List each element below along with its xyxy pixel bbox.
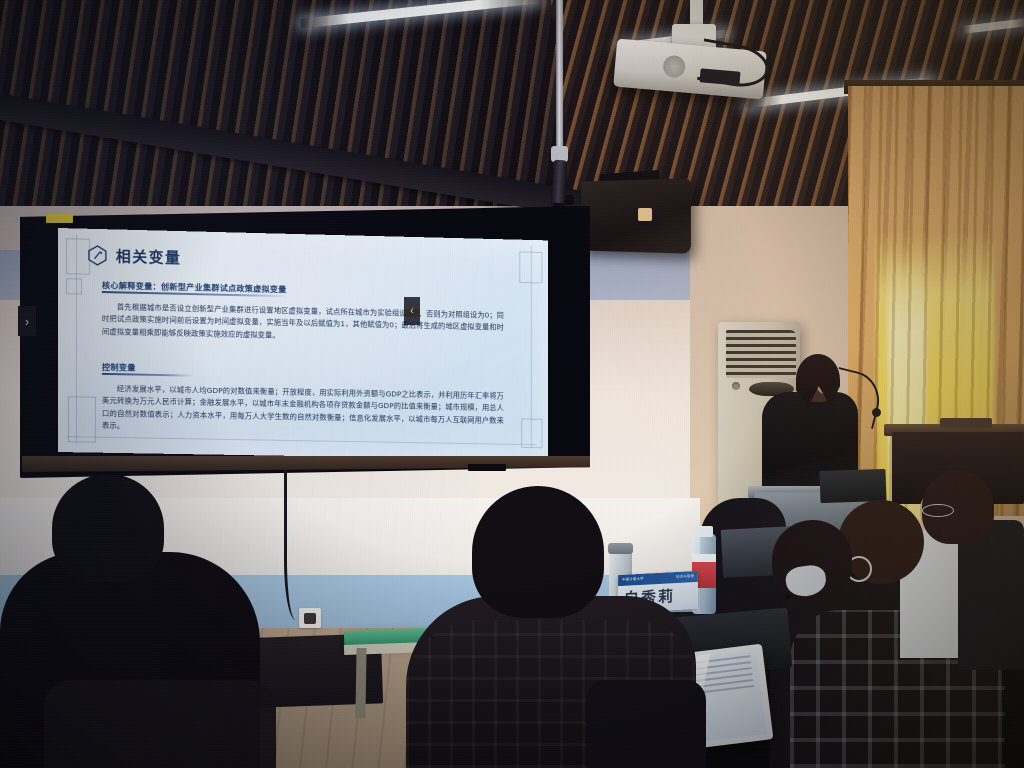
pen-hexagon-icon	[88, 245, 107, 266]
cabinet-equipment	[940, 418, 992, 428]
hanging-microphone-icon	[551, 160, 567, 209]
audience-head	[472, 486, 604, 618]
slide-title: 相关变量	[116, 245, 182, 268]
speaker-port	[638, 208, 652, 221]
slide-decoration-line	[531, 246, 532, 448]
thermos-cap	[608, 543, 633, 554]
slide-decoration	[66, 278, 82, 294]
slide-body-paragraph-2: 经济发展水平，以城市人均GDP的对数值来衡量；开放程度，用实际利用外资额与GDP…	[102, 383, 504, 440]
microphone-head-icon	[872, 408, 881, 417]
podium-laptop	[819, 469, 886, 503]
wall-speaker	[581, 178, 691, 253]
lecture-hall-photo: 相关变量 核心解释变量：创新型产业集群试点政策虚拟变量 首先根据城市是否设立创新…	[0, 0, 1024, 768]
slide-next-arrow-icon[interactable]: ‹	[404, 297, 420, 325]
air-conditioner-button[interactable]	[732, 382, 740, 390]
screen-control-panel[interactable]	[468, 464, 506, 471]
slide-decoration	[66, 238, 90, 275]
slide-title-row: 相关变量	[88, 245, 181, 268]
ceiling-microphone-pole	[556, 0, 563, 150]
yellow-sticker	[46, 214, 73, 223]
table-leg	[355, 648, 366, 718]
slide-section-heading-2: 控制变量	[102, 361, 136, 374]
placard-right-text: 经济与管理	[676, 574, 694, 580]
chair-back	[586, 680, 706, 768]
placard-left-text: 中国计量大学	[622, 577, 644, 583]
wall-outlet	[299, 608, 321, 628]
audience-head	[52, 474, 164, 582]
chair-back	[44, 680, 276, 768]
presentation-slide: 相关变量 核心解释变量：创新型产业集群试点政策虚拟变量 首先根据城市是否设立创新…	[58, 228, 548, 460]
slide-prev-arrow-icon[interactable]: ›	[18, 306, 36, 336]
power-cable	[284, 470, 313, 620]
air-conditioner-grille	[726, 330, 796, 378]
eyeglasses-icon	[922, 504, 954, 517]
bottle-cap	[695, 526, 713, 537]
slide-decoration-line	[76, 234, 77, 444]
